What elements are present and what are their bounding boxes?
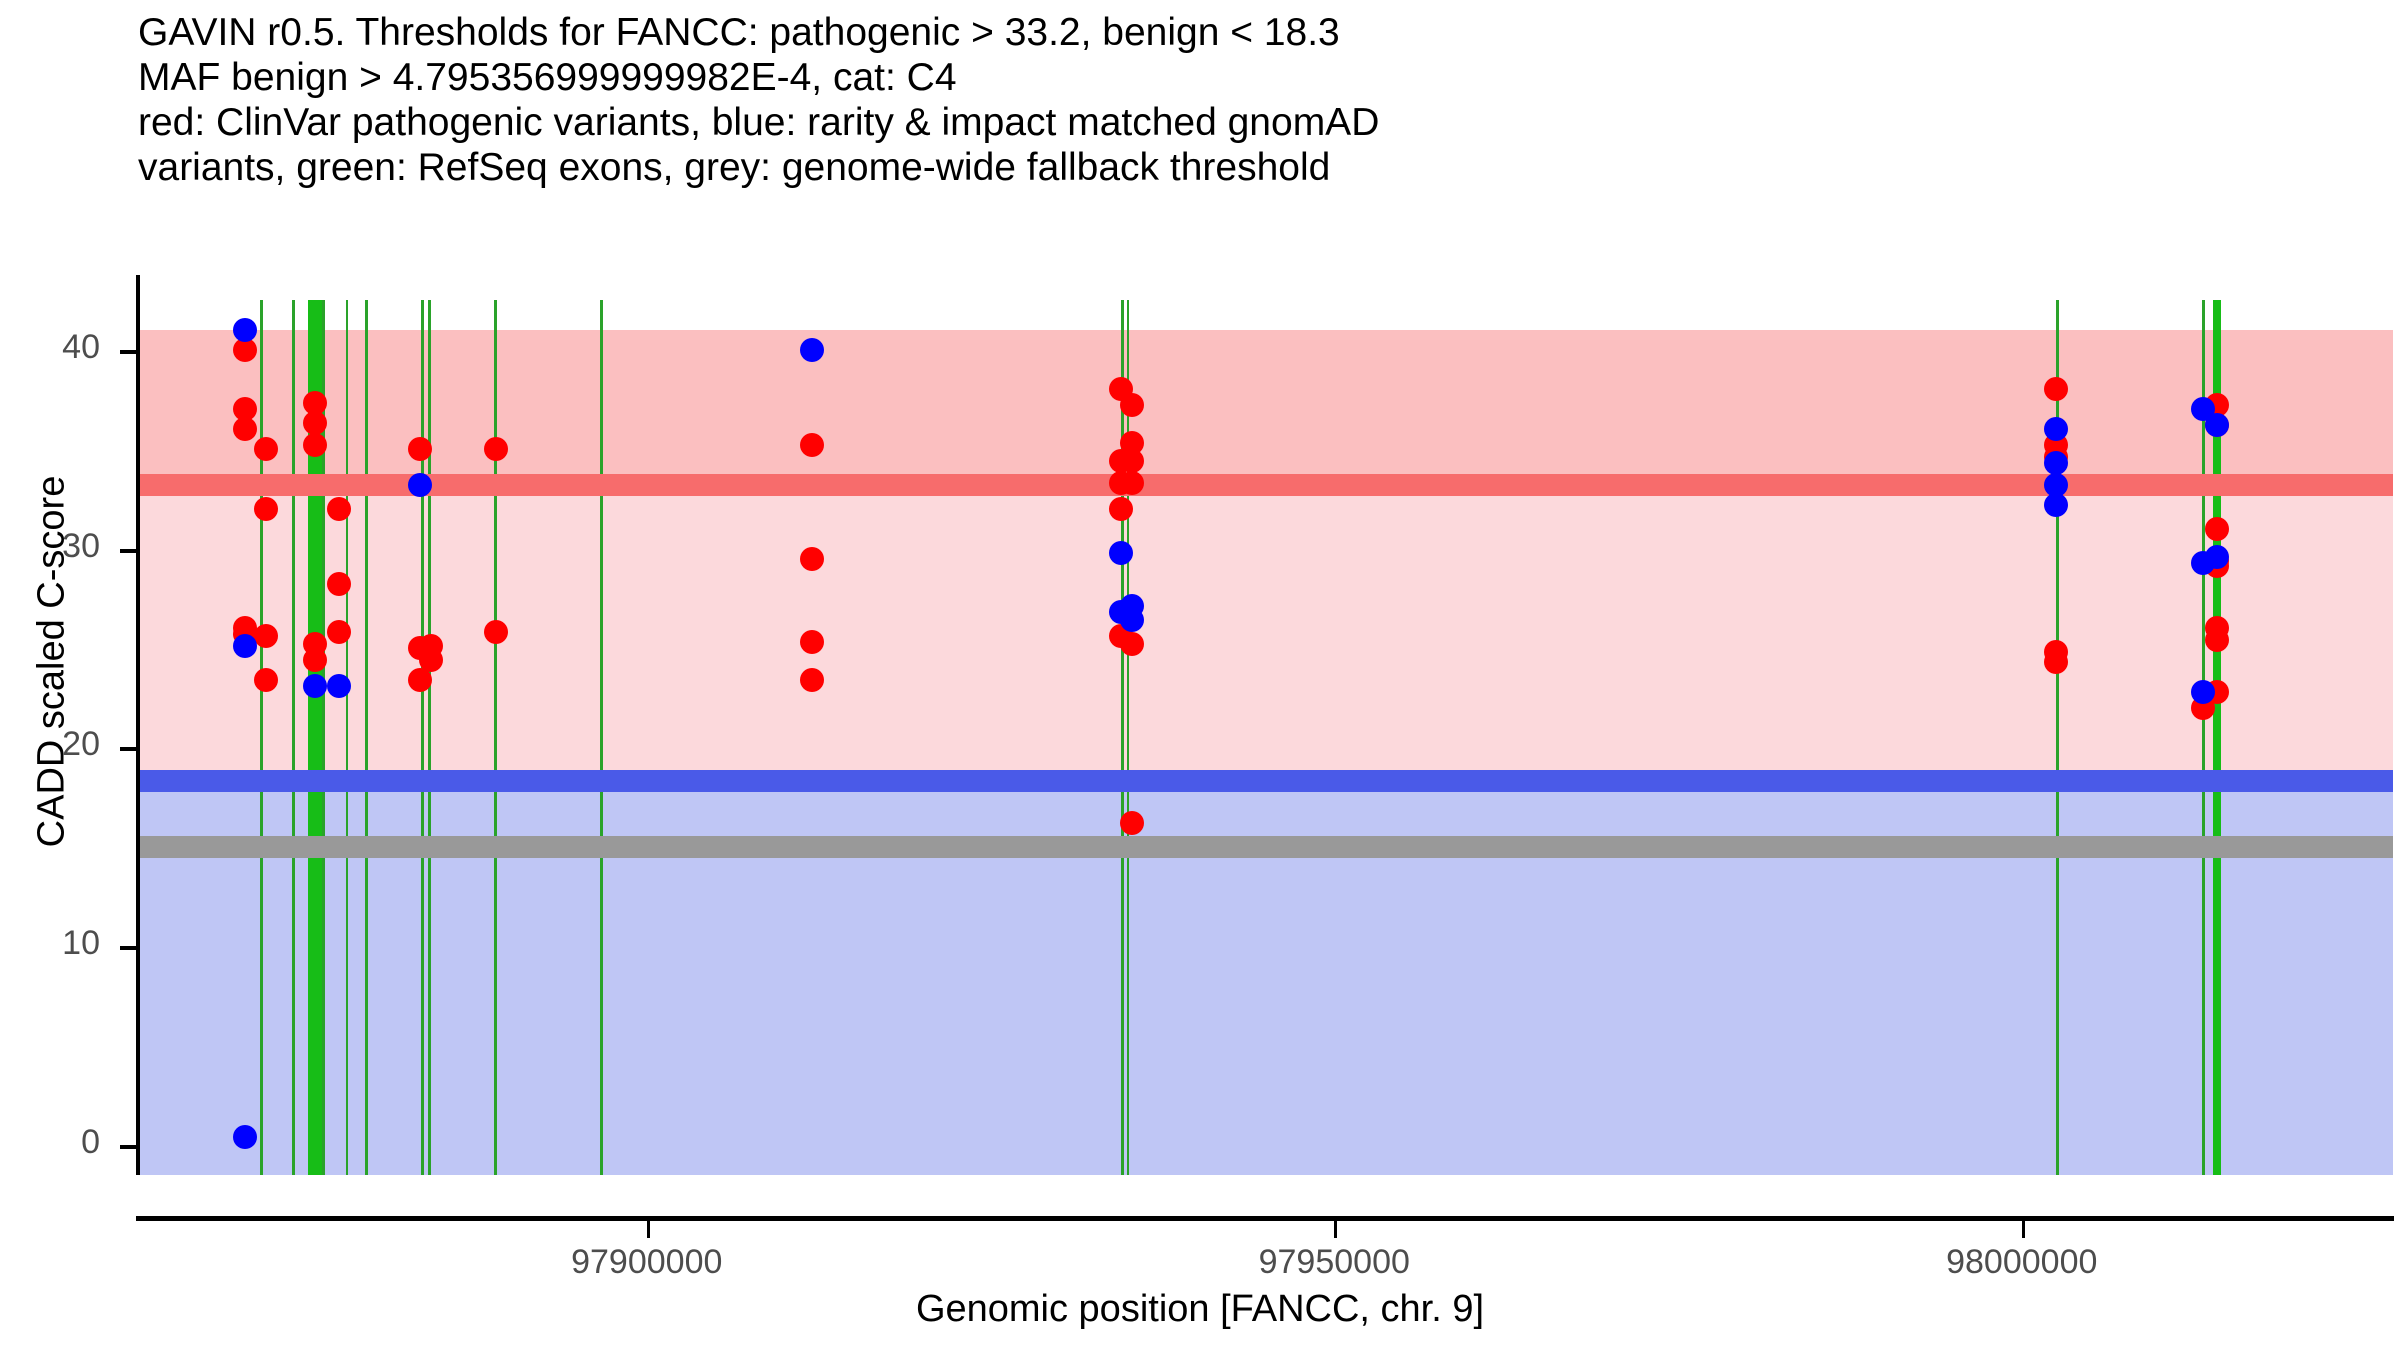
x-tick-label: 97950000 [1259,1243,1410,1282]
pathogenic-variant-point [2205,517,2229,541]
gnomad-variant-point [2205,545,2229,569]
x-axis-line [136,1216,2394,1221]
title-line-3: red: ClinVar pathogenic variants, blue: … [138,100,2338,145]
y-tick [120,1145,136,1149]
pathogenic-variant-point [254,497,278,521]
x-tick [2022,1221,2025,1238]
y-tick-label: 0 [0,1123,100,1162]
vus-zone [138,485,2393,781]
pathogenic-variant-point [800,668,824,692]
title-line-2: MAF benign > 4.795356999999982E-4, cat: … [138,55,2338,100]
plot-panel [138,300,2393,1175]
gnomad-variant-point [2044,451,2068,475]
exon-line [494,300,497,1175]
pathogenic-variant-point [419,648,443,672]
pathogenic-variant-point [2044,650,2068,674]
gnomad-variant-point [408,473,432,497]
y-tick [120,350,136,354]
gnomad-variant-point [327,674,351,698]
exon-line [2202,300,2205,1175]
pathogenic-variant-point [254,437,278,461]
pathogenic-variant-point [2205,628,2229,652]
y-axis-line [136,275,140,1175]
pathogenic-variant-point [254,624,278,648]
gnomad-variant-point [2191,680,2215,704]
threshold-line-genome-wide-fallback [138,836,2393,858]
chart-title: GAVIN r0.5. Thresholds for FANCC: pathog… [138,10,2338,190]
pathogenic-variant-point [327,620,351,644]
x-axis-label: Genomic position [FANCC, chr. 9] [0,1288,2400,1331]
gnomad-variant-point [303,674,327,698]
pathogenic-variant-point [327,572,351,596]
pathogenic-variant-point [800,433,824,457]
x-tick-label: 98000000 [1946,1243,2097,1282]
threshold-line-benign [138,770,2393,792]
y-tick [120,549,136,553]
pathogenic-variant-point [408,437,432,461]
gnomad-variant-point [2044,493,2068,517]
pathogenic-variant-point [484,437,508,461]
pathogenic-variant-point [800,547,824,571]
pathogenic-variant-point [1120,471,1144,495]
gnomad-variant-point [800,338,824,362]
x-tick-label: 97900000 [571,1243,722,1282]
x-tick [647,1221,650,1238]
pathogenic-variant-point [1120,632,1144,656]
pathogenic-variant-point [327,497,351,521]
chart-root: GAVIN r0.5. Thresholds for FANCC: pathog… [0,0,2400,1350]
y-tick [120,747,136,751]
exon-line [600,300,603,1175]
exon-line [365,300,368,1175]
pathogenic-variant-point [800,630,824,654]
title-line-1: GAVIN r0.5. Thresholds for FANCC: pathog… [138,10,2338,55]
exon-line [1121,300,1124,1175]
x-tick [1334,1221,1337,1238]
y-tick [120,946,136,950]
gnomad-variant-point [233,318,257,342]
gnomad-variant-point [1109,541,1133,565]
exon-line [260,300,263,1175]
pathogenic-variant-point [484,620,508,644]
y-axis-label: CADD scaled C-score [31,262,74,1062]
pathogenic-variant-point [254,668,278,692]
exon-line [292,300,295,1175]
title-line-4: variants, green: RefSeq exons, grey: gen… [138,145,2338,190]
exon-line [428,300,431,1175]
exon-line [346,300,349,1175]
pathogenic-variant-point [1120,811,1144,835]
pathogenic-variant-point [1109,497,1133,521]
exon-line [421,300,424,1175]
